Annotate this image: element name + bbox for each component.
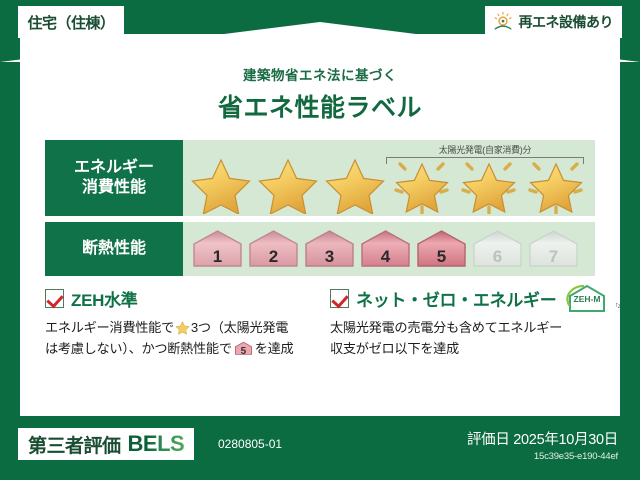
criterion-net-zero: ネット・ゼロ・エネルギー ZEH-M 「ZEH-M」 太陽光発電の売電分も含めて… <box>312 286 620 360</box>
insulation-grade-row: 1 2 <box>190 228 581 270</box>
zeh-desc-starcount: 3つ（太陽光発電 <box>191 320 288 335</box>
criterion-zeh: ZEH水準 エネルギー消費性能で3つ（太陽光発電 は考慮しない）、かつ断熱性能で… <box>20 286 312 360</box>
evaluation-date-block: 評価日 2025年10月30日 15c39e35-e190-44ef <box>467 428 618 462</box>
renewable-energy-badge: 再エネ設備あり <box>485 6 623 38</box>
energy-performance-label: 住宅（住棟） 再エネ設備あり 建築物省エネ法に基づく 省エネ性能ラベル <box>0 0 640 480</box>
zeh-desc-part3: を達成 <box>255 341 294 356</box>
net-zero-desc-line1: 太陽光発電の売電分も含めてエネルギー <box>330 320 562 335</box>
inner-roof-shape <box>20 34 620 68</box>
energy-performance-content: 太陽光発電(自家消費)分 <box>183 140 595 216</box>
grade-number: 5 <box>414 247 469 267</box>
grade-number: 6 <box>470 247 525 267</box>
insulation-grade-badge: 2 <box>246 228 301 270</box>
zeh-heading: ZEH水準 <box>45 286 312 310</box>
energy-performance-panel: エネルギー 消費性能 太陽光発電(自家消費)分 <box>45 140 595 216</box>
energy-label-line2: 消費性能 <box>82 178 146 198</box>
grade-number: 2 <box>246 247 301 267</box>
net-zero-desc-line2: 収支がゼロ以下を達成 <box>330 341 459 356</box>
bels-wordmark: BELS <box>128 431 185 457</box>
insulation-grade-badge-inactive: 7 <box>526 228 581 270</box>
grade-number: 1 <box>190 247 245 267</box>
sun-icon <box>492 11 514 33</box>
star-filled <box>323 156 387 214</box>
zeh-m-logo: ZEH-M 「ZEH-M」 <box>564 283 620 313</box>
insulation-grade-badge: 4 <box>358 228 413 270</box>
zeh-desc-part1: エネルギー消費性能で <box>45 320 174 335</box>
grade-number: 3 <box>302 247 357 267</box>
page-title: 建築物省エネ法に基づく 省エネ性能ラベル <box>20 64 620 124</box>
zeh-m-caption: 「ZEH-M」 <box>612 302 620 313</box>
star-solar <box>457 156 521 214</box>
insulation-grade-badge: 3 <box>302 228 357 270</box>
insulation-grade-badge: 5 <box>414 228 469 270</box>
label-footer: 第三者評価 BELS 0280805-01 評価日 2025年10月30日 15… <box>0 416 640 480</box>
inline-grade-badge: 5 <box>234 340 253 357</box>
star-filled <box>256 156 320 214</box>
zeh-title: ZEH水準 <box>71 286 138 311</box>
insulation-label: 断熱性能 <box>82 239 146 259</box>
star-solar <box>390 156 454 214</box>
net-zero-description: 太陽光発電の売電分も含めてエネルギー 収支がゼロ以下を達成 <box>330 317 620 360</box>
title-main: 省エネ性能ラベル <box>20 88 620 124</box>
criteria-section: ZEH水準 エネルギー消費性能で3つ（太陽光発電 は考慮しない）、かつ断熱性能で… <box>20 286 620 360</box>
energy-label-line1: エネルギー <box>74 158 154 178</box>
building-type-tag: 住宅（住棟） <box>18 6 124 38</box>
building-type-label: 住宅（住棟） <box>27 12 114 33</box>
insulation-grade-badge-inactive: 6 <box>470 228 525 270</box>
check-icon <box>330 289 349 308</box>
inline-star-icon <box>175 320 190 335</box>
title-subtitle: 建築物省エネ法に基づく <box>20 64 620 84</box>
star-rating-row <box>189 156 588 214</box>
inline-grade-number: 5 <box>234 344 253 360</box>
insulation-grade-badge: 1 <box>190 228 245 270</box>
insulation-performance-content: 1 2 <box>183 222 595 276</box>
svg-text:ZEH-M: ZEH-M <box>574 294 601 304</box>
bels-certification-tag: 第三者評価 BELS <box>18 428 194 460</box>
net-zero-title: ネット・ゼロ・エネルギー <box>356 286 556 311</box>
renewable-energy-label: 再エネ設備あり <box>519 12 614 32</box>
energy-performance-label-box: エネルギー 消費性能 <box>45 140 183 216</box>
insulation-performance-panel: 断熱性能 1 <box>45 222 595 276</box>
third-party-label: 第三者評価 <box>28 431 121 458</box>
evaluation-date: 評価日 2025年10月30日 <box>467 428 618 449</box>
grade-number: 7 <box>526 247 581 267</box>
label-body: 建築物省エネ法に基づく 省エネ性能ラベル エネルギー 消費性能 太陽光発電(自家… <box>20 34 620 416</box>
net-zero-heading: ネット・ゼロ・エネルギー ZEH-M 「ZEH-M」 <box>330 286 620 310</box>
star-solar <box>524 156 588 214</box>
check-icon <box>45 289 64 308</box>
zeh-description: エネルギー消費性能で3つ（太陽光発電 は考慮しない）、かつ断熱性能で5を達成 <box>45 317 312 360</box>
evaluation-uid: 15c39e35-e190-44ef <box>467 451 618 462</box>
insulation-performance-label-box: 断熱性能 <box>45 222 183 276</box>
bels-number: 0280805-01 <box>218 437 282 451</box>
solar-bracket-label: 太陽光発電(自家消費)分 <box>386 143 584 156</box>
zeh-m-house-icon: ZEH-M <box>564 283 610 313</box>
star-filled <box>189 156 253 214</box>
grade-number: 4 <box>358 247 413 267</box>
zeh-desc-part2: は考慮しない）、かつ断熱性能で <box>45 341 232 356</box>
